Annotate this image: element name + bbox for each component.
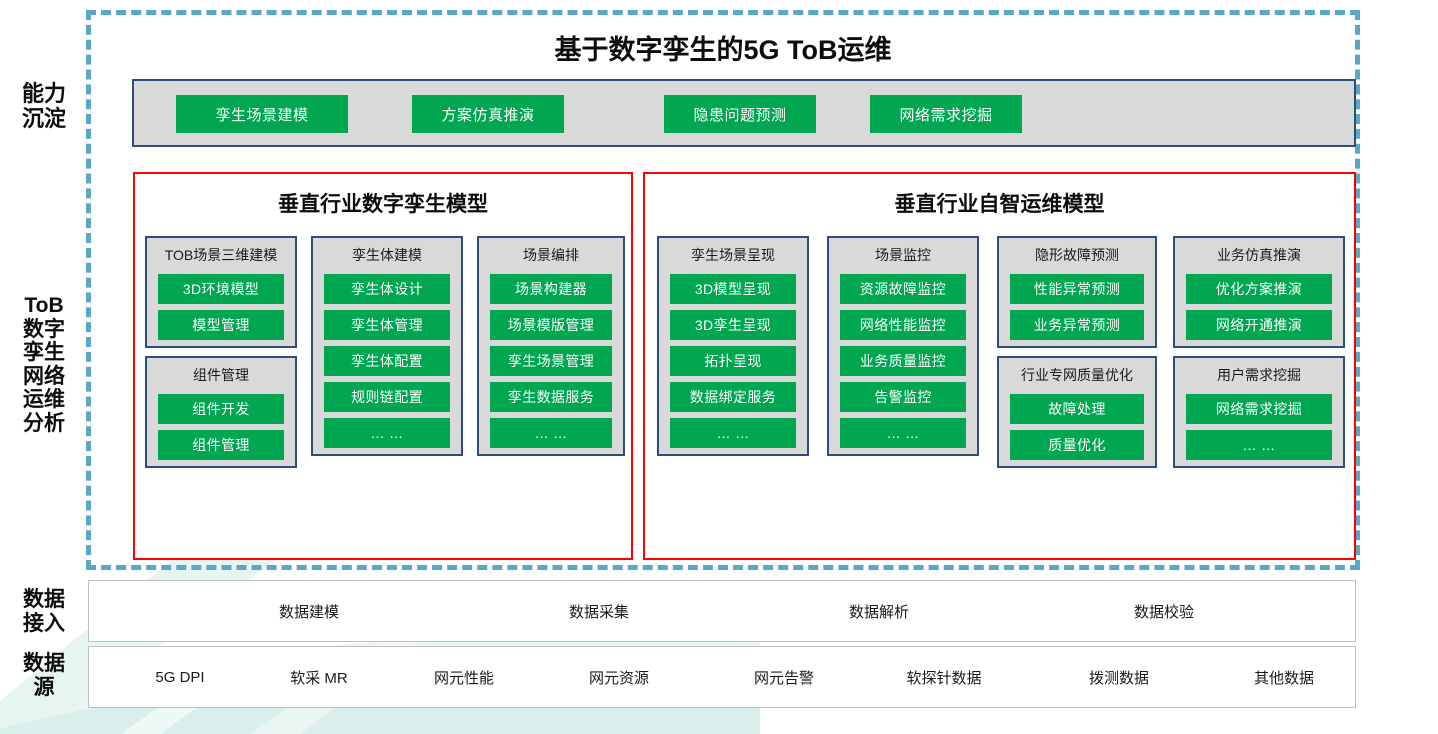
sub-card-title: 孪生场景呈现 bbox=[659, 245, 807, 265]
page-title: 基于数字孪生的5G ToB运维 bbox=[86, 28, 1360, 67]
data-source-cell-6: 软探针数据 bbox=[859, 647, 1029, 707]
feature-item[interactable]: 网络性能监控 bbox=[840, 310, 966, 340]
feature-item[interactable]: 性能异常预测 bbox=[1010, 274, 1144, 304]
sub-card-title: 隐形故障预测 bbox=[999, 245, 1155, 265]
row-label-data-access-line: 接入 bbox=[8, 612, 80, 636]
row-label-data-access-line: 数据 bbox=[8, 588, 80, 612]
row-label-tob-analysis-line: 分析 bbox=[12, 412, 76, 436]
sub-card: 场景编排场景构建器场景模版管理孪生场景管理孪生数据服务… … bbox=[477, 236, 625, 456]
feature-item[interactable]: 组件管理 bbox=[158, 430, 284, 460]
row-label-ability-line: 能力 bbox=[8, 82, 80, 107]
feature-item[interactable]: … … bbox=[670, 418, 796, 448]
panel-title: 垂直行业数字孪生模型 bbox=[135, 188, 631, 218]
feature-item[interactable]: 孪生体管理 bbox=[324, 310, 450, 340]
feature-item[interactable]: 优化方案推演 bbox=[1186, 274, 1332, 304]
row-label-tob-analysis-line: ToB bbox=[12, 294, 76, 318]
sub-card: 用户需求挖掘网络需求挖掘… … bbox=[1173, 356, 1345, 468]
data-source-cell-4: 网元资源 bbox=[544, 647, 694, 707]
feature-item[interactable]: 孪生体配置 bbox=[324, 346, 450, 376]
capability-strip: 孪生场景建模方案仿真推演隐患问题预测网络需求挖掘 bbox=[132, 79, 1356, 147]
data-source-cell-2: 软采 MR bbox=[244, 647, 394, 707]
feature-item[interactable]: 场景构建器 bbox=[490, 274, 612, 304]
sub-card-title: 场景监控 bbox=[829, 245, 977, 265]
row-label-data-source: 数据源 bbox=[8, 652, 80, 699]
row-label-data-access: 数据接入 bbox=[8, 588, 80, 635]
capability-chip-container: 孪生场景建模方案仿真推演隐患问题预测网络需求挖掘 bbox=[134, 81, 1354, 145]
feature-item[interactable]: 告警监控 bbox=[840, 382, 966, 412]
capability-chip-3[interactable]: 隐患问题预测 bbox=[664, 95, 816, 133]
data-source-cell-8: 其他数据 bbox=[1199, 647, 1369, 707]
feature-item[interactable]: 资源故障监控 bbox=[840, 274, 966, 304]
sub-card-title: 孪生体建模 bbox=[313, 245, 461, 265]
capability-chip-4[interactable]: 网络需求挖掘 bbox=[870, 95, 1022, 133]
feature-item[interactable]: 网络需求挖掘 bbox=[1186, 394, 1332, 424]
data-source-row: 5G DPI软采 MR网元性能网元资源网元告警软探针数据拨测数据其他数据 bbox=[88, 646, 1356, 708]
row-label-tob-analysis-line: 运维 bbox=[12, 388, 76, 412]
data-access-cell-2: 数据采集 bbox=[484, 581, 714, 641]
sub-card: 隐形故障预测性能异常预测业务异常预测 bbox=[997, 236, 1157, 348]
sub-card-title: 用户需求挖掘 bbox=[1175, 365, 1343, 385]
row-label-tob-analysis-line: 数字 bbox=[12, 318, 76, 342]
sub-card: 业务仿真推演优化方案推演网络开通推演 bbox=[1173, 236, 1345, 348]
feature-item[interactable]: 场景模版管理 bbox=[490, 310, 612, 340]
feature-item[interactable]: 业务异常预测 bbox=[1010, 310, 1144, 340]
row-label-ability: 能力沉淀 bbox=[8, 82, 80, 131]
diagram-canvas: 能力沉淀 ToB数字孪生网络运维分析 数据接入 数据源 基于数字孪生的5G To… bbox=[0, 0, 1438, 734]
feature-item[interactable]: 规则链配置 bbox=[324, 382, 450, 412]
feature-item[interactable]: … … bbox=[840, 418, 966, 448]
feature-item[interactable]: 质量优化 bbox=[1010, 430, 1144, 460]
feature-item[interactable]: 3D孪生呈现 bbox=[670, 310, 796, 340]
sub-card: 孪生场景呈现3D模型呈现3D孪生呈现拓扑呈现数据绑定服务… … bbox=[657, 236, 809, 456]
data-source-cell-3: 网元性能 bbox=[389, 647, 539, 707]
feature-item[interactable]: 数据绑定服务 bbox=[670, 382, 796, 412]
sub-card-title: 行业专网质量优化 bbox=[999, 365, 1155, 385]
data-access-cell-3: 数据解析 bbox=[764, 581, 994, 641]
row-label-tob-analysis-line: 孪生 bbox=[12, 341, 76, 365]
sub-card: 组件管理组件开发组件管理 bbox=[145, 356, 297, 468]
feature-item[interactable]: … … bbox=[490, 418, 612, 448]
sub-card-title: 组件管理 bbox=[147, 365, 295, 385]
row-label-tob-analysis: ToB数字孪生网络运维分析 bbox=[12, 294, 76, 435]
panel-title: 垂直行业自智运维模型 bbox=[645, 188, 1354, 218]
data-source-cell-7: 拨测数据 bbox=[1034, 647, 1204, 707]
row-label-data-source-line: 数据 bbox=[8, 652, 80, 676]
row-label-tob-analysis-line: 网络 bbox=[12, 365, 76, 389]
feature-item[interactable]: 孪生场景管理 bbox=[490, 346, 612, 376]
feature-item[interactable]: 3D模型呈现 bbox=[670, 274, 796, 304]
feature-item[interactable]: 孪生数据服务 bbox=[490, 382, 612, 412]
feature-item[interactable]: 组件开发 bbox=[158, 394, 284, 424]
data-source-cell-1: 5G DPI bbox=[105, 647, 255, 707]
data-access-row: 数据建模数据采集数据解析数据校验 bbox=[88, 580, 1356, 642]
panel-vertical-twin-model: 垂直行业数字孪生模型 TOB场景三维建模3D环境模型模型管理组件管理组件开发组件… bbox=[133, 172, 633, 560]
feature-item[interactable]: 业务质量监控 bbox=[840, 346, 966, 376]
feature-item[interactable]: … … bbox=[324, 418, 450, 448]
data-source-cell-5: 网元告警 bbox=[709, 647, 859, 707]
feature-item[interactable]: 孪生体设计 bbox=[324, 274, 450, 304]
row-label-ability-line: 沉淀 bbox=[8, 107, 80, 132]
capability-chip-1[interactable]: 孪生场景建模 bbox=[176, 95, 348, 133]
feature-item[interactable]: 网络开通推演 bbox=[1186, 310, 1332, 340]
feature-item[interactable]: 拓扑呈现 bbox=[670, 346, 796, 376]
sub-card: 行业专网质量优化故障处理质量优化 bbox=[997, 356, 1157, 468]
data-access-cell-4: 数据校验 bbox=[1049, 581, 1279, 641]
data-access-cell-1: 数据建模 bbox=[194, 581, 424, 641]
sub-card-title: 业务仿真推演 bbox=[1175, 245, 1343, 265]
sub-card-title: 场景编排 bbox=[479, 245, 623, 265]
sub-card-title: TOB场景三维建模 bbox=[147, 245, 295, 265]
row-label-data-source-line: 源 bbox=[8, 676, 80, 700]
sub-card: 场景监控资源故障监控网络性能监控业务质量监控告警监控… … bbox=[827, 236, 979, 456]
panel-vertical-autonomous-ops-model: 垂直行业自智运维模型 孪生场景呈现3D模型呈现3D孪生呈现拓扑呈现数据绑定服务…… bbox=[643, 172, 1356, 560]
sub-card: TOB场景三维建模3D环境模型模型管理 bbox=[145, 236, 297, 348]
capability-chip-2[interactable]: 方案仿真推演 bbox=[412, 95, 564, 133]
feature-item[interactable]: 模型管理 bbox=[158, 310, 284, 340]
feature-item[interactable]: … … bbox=[1186, 430, 1332, 460]
feature-item[interactable]: 故障处理 bbox=[1010, 394, 1144, 424]
sub-card: 孪生体建模孪生体设计孪生体管理孪生体配置规则链配置… … bbox=[311, 236, 463, 456]
feature-item[interactable]: 3D环境模型 bbox=[158, 274, 284, 304]
